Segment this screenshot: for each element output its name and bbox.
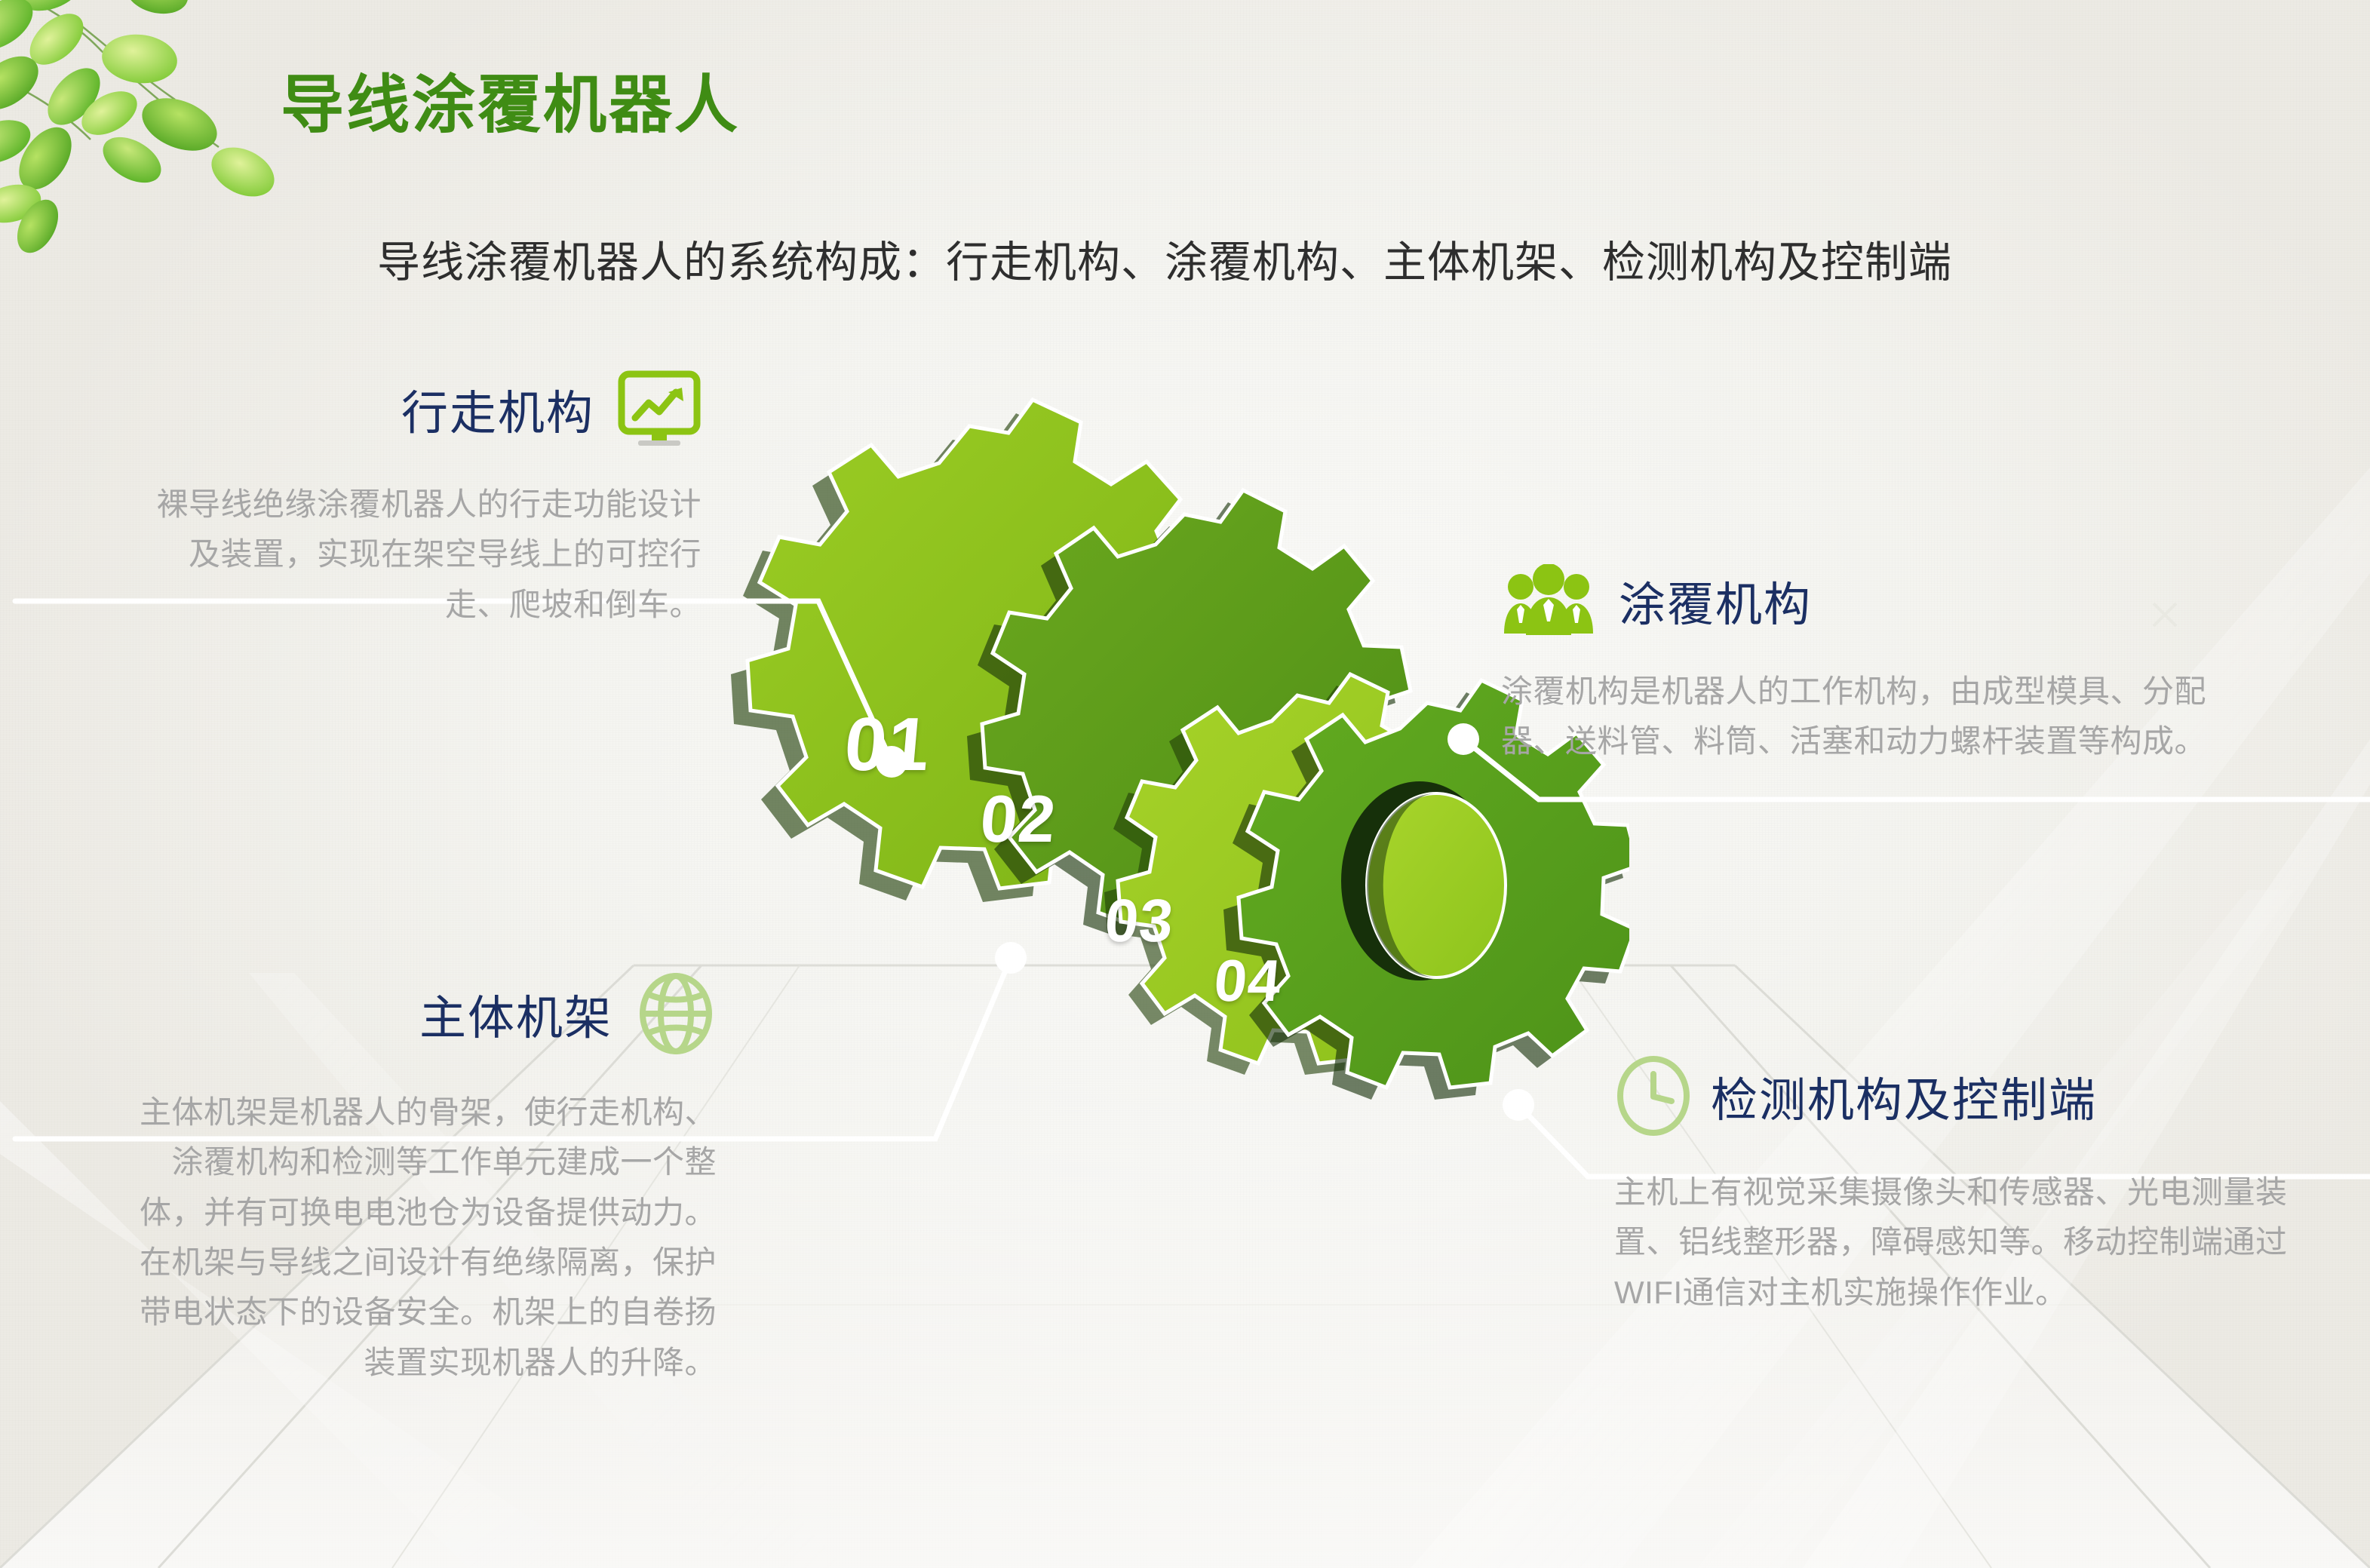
- gear-number-01: 01: [841, 701, 934, 788]
- page-title: 导线涂覆机器人: [281, 54, 740, 146]
- globe-icon: [635, 971, 717, 1056]
- section-walking-mechanism: 行走机构 裸导线绝缘涂覆机器人的行走功能设计及装置，实现在架空导线上的可控行走、…: [128, 370, 701, 630]
- gear-cluster-graphic: [701, 354, 1629, 1282]
- section-detection-control: 检测机构及控制端 主机上有视觉采集摄像头和传感器、光电测量装置、铝线整形器，障碍…: [1614, 1054, 2293, 1318]
- slide-canvas: 导线涂覆机器人 导线涂覆机器人的系统构成：行走机构、涂覆机构、主体机架、检测机构…: [0, 0, 2370, 1568]
- gear-number-03: 03: [1102, 886, 1177, 956]
- section-heading-detection: 检测机构及控制端: [1711, 1062, 2097, 1130]
- gear-number-04: 04: [1211, 947, 1285, 1015]
- clock-icon: [1614, 1054, 1693, 1137]
- section-body-walking: 裸导线绝缘涂覆机器人的行走功能设计及装置，实现在架空导线上的可控行走、爬坡和倒车…: [128, 480, 701, 630]
- section-heading-walking: 行走机构: [401, 375, 594, 443]
- gear-number-02: 02: [978, 781, 1060, 858]
- section-main-frame: 主体机架 主体机架是机器人的骨架，使行走机构、涂覆机构和检测等工作单元建成一个整…: [113, 971, 717, 1388]
- section-body-detection: 主机上有视觉采集摄像头和传感器、光电测量装置、铝线整形器，障碍感知等。移动控制端…: [1614, 1168, 2293, 1318]
- green-leaves-decoration: [0, 0, 302, 264]
- section-coating-mechanism: 涂覆机构 涂覆机构是机器人的工作机构，由成型模具、分配器、送料管、料筒、活塞和动…: [1501, 564, 2240, 767]
- section-heading-coating: 涂覆机构: [1619, 566, 1812, 634]
- monitor-chart-icon: [617, 370, 701, 448]
- people-group-icon: [1501, 564, 1596, 637]
- section-body-coating: 涂覆机构是机器人的工作机构，由成型模具、分配器、送料管、料筒、活塞和动力螺杆装置…: [1501, 667, 2240, 767]
- page-subtitle: 导线涂覆机器人的系统构成：行走机构、涂覆机构、主体机架、检测机构及控制端: [377, 228, 1952, 290]
- section-heading-frame: 主体机架: [419, 980, 612, 1048]
- section-body-frame: 主体机架是机器人的骨架，使行走机构、涂覆机构和检测等工作单元建成一个整体，并有可…: [113, 1088, 717, 1388]
